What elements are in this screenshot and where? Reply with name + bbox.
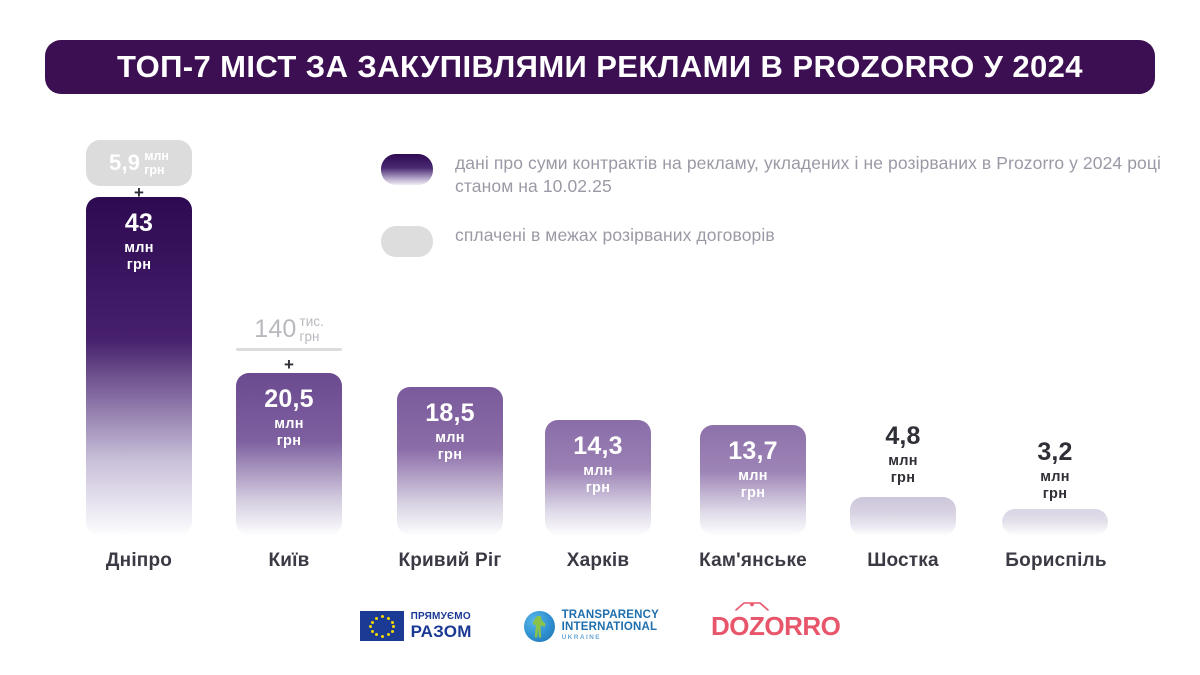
bar-kamianske[interactable]: 13,7 млн грн bbox=[700, 425, 806, 535]
secondary-value-kyiv: 140 bbox=[254, 315, 296, 344]
bar-value-unit2-kyiv: грн bbox=[277, 433, 302, 449]
secondary-chip-value-dnipro: 5,9 bbox=[109, 150, 140, 176]
bar-value-unit1-boryspil: млн bbox=[1040, 469, 1070, 485]
bar-value-kyiv: 20,5 млн грн bbox=[236, 387, 342, 450]
bar-value-number-dnipro: 43 bbox=[86, 211, 192, 237]
bar-value-unit1-kamianske: млн bbox=[738, 468, 768, 484]
logo-dozorro: DOZORRO bbox=[711, 608, 840, 644]
eu-logo-line1: ПРЯМУЄМО bbox=[411, 612, 472, 622]
bar-value-unit1-dnipro: млн bbox=[124, 240, 154, 256]
logo-transparency-international: TRANSPARENCY INTERNATIONAL UKRAINE bbox=[524, 608, 659, 644]
city-label-kharkiv: Харків bbox=[545, 550, 651, 572]
ti-logo-line2: INTERNATIONAL bbox=[562, 622, 659, 634]
city-label-shostka: Шостка bbox=[850, 550, 956, 572]
city-label-kamianske: Кам'янське bbox=[690, 550, 816, 572]
city-label-kryvyi-rih: Кривий Ріг bbox=[390, 550, 510, 572]
ti-globe-icon bbox=[524, 611, 555, 642]
bar-value-unit2-dnipro: грн bbox=[127, 257, 152, 273]
bar-chart: 5,9 млн грн + 43 млн грн Дніпро 140 тис.… bbox=[0, 0, 1200, 675]
bar-value-shostka: 4,8 млн грн bbox=[850, 424, 956, 487]
bar-value-unit1-kryvyi-rih: млн bbox=[435, 430, 465, 446]
bar-value-kharkiv: 14,3 млн грн bbox=[545, 434, 651, 497]
city-label-boryspil: Бориспіль bbox=[995, 550, 1117, 572]
bar-shostka[interactable] bbox=[850, 497, 956, 535]
bar-value-unit1-kyiv: млн bbox=[274, 416, 304, 432]
eu-logo-line2: РАЗОМ bbox=[411, 623, 472, 640]
city-label-dnipro: Дніпро bbox=[86, 550, 192, 572]
logo-eu-pryamuyemo-razom: ПРЯМУЄМО РАЗОМ bbox=[360, 608, 472, 644]
bar-value-kamianske: 13,7 млн грн bbox=[700, 439, 806, 502]
bar-value-unit2-kryvyi-rih: грн bbox=[438, 447, 463, 463]
bar-value-unit2-shostka: грн bbox=[891, 470, 916, 486]
bar-value-unit2-boryspil: грн bbox=[1043, 486, 1068, 502]
secondary-unit2-kyiv: грн bbox=[300, 329, 320, 344]
bar-value-number-kyiv: 20,5 bbox=[236, 387, 342, 413]
bar-value-kryvyi-rih: 18,5 млн грн bbox=[397, 401, 503, 464]
bar-value-unit2-kharkiv: грн bbox=[586, 480, 611, 496]
bar-value-unit1-kharkiv: млн bbox=[583, 463, 613, 479]
secondary-chip-unit1-dnipro: млн bbox=[144, 149, 169, 163]
bar-kharkiv[interactable]: 14,3 млн грн bbox=[545, 420, 651, 535]
secondary-bar-kyiv bbox=[236, 348, 342, 351]
bar-boryspil[interactable] bbox=[1002, 509, 1108, 535]
secondary-chip-unit2-dnipro: грн bbox=[144, 163, 164, 177]
secondary-label-kyiv: 140 тис. грн bbox=[236, 312, 342, 346]
bar-value-number-boryspil: 3,2 bbox=[1002, 440, 1108, 466]
plus-sign-kyiv: + bbox=[236, 356, 342, 373]
bar-value-unit1-shostka: млн bbox=[888, 453, 918, 469]
bar-kryvyi-rih[interactable]: 18,5 млн грн bbox=[397, 387, 503, 535]
bar-value-number-shostka: 4,8 bbox=[850, 424, 956, 450]
bar-value-number-kamianske: 13,7 bbox=[700, 439, 806, 465]
bar-value-boryspil: 3,2 млн грн bbox=[1002, 440, 1108, 503]
eu-flag-icon bbox=[360, 611, 404, 641]
bar-value-number-kharkiv: 14,3 bbox=[545, 434, 651, 460]
bar-value-number-kryvyi-rih: 18,5 bbox=[397, 401, 503, 427]
bar-dnipro[interactable]: 43 млн грн bbox=[86, 197, 192, 535]
binoculars-icon bbox=[730, 602, 774, 611]
secondary-unit1-kyiv: тис. bbox=[300, 314, 324, 329]
secondary-chip-dnipro: 5,9 млн грн bbox=[86, 140, 192, 186]
bar-value-dnipro: 43 млн грн bbox=[86, 211, 192, 274]
bar-value-unit2-kamianske: грн bbox=[741, 485, 766, 501]
city-label-kyiv: Київ bbox=[236, 550, 342, 572]
ti-logo-line3: UKRAINE bbox=[562, 635, 659, 642]
footer-logos: ПРЯМУЄМО РАЗОМ TRANSPARENCY INTERNATIONA… bbox=[0, 604, 1200, 648]
dozorro-logo-text: DOZORRO bbox=[711, 613, 840, 639]
bar-kyiv[interactable]: 20,5 млн грн bbox=[236, 373, 342, 535]
